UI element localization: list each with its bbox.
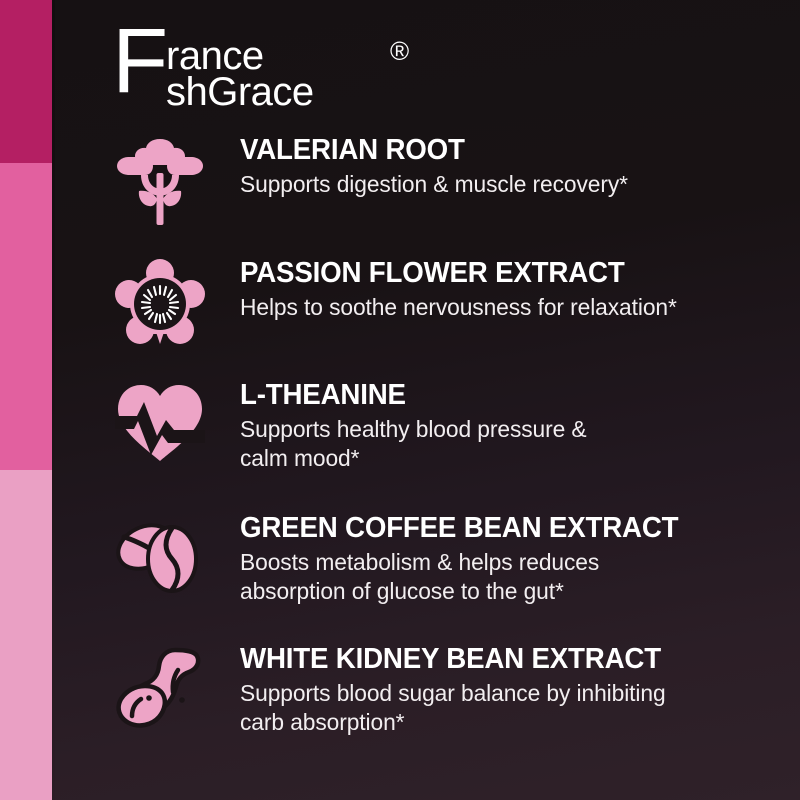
ingredient-description: Supports blood sugar balance by inhibiti… — [240, 679, 779, 737]
list-item-text: GREEN COFFEE BEAN EXTRACT Boosts metabol… — [240, 511, 796, 606]
heart-pulse-icon — [106, 378, 214, 474]
ingredient-title: PASSION FLOWER EXTRACT — [240, 256, 771, 290]
ingredient-description-line: Helps to soothe nervousness for relaxati… — [240, 293, 779, 322]
ingredient-description: Helps to soothe nervousness for relaxati… — [240, 293, 779, 322]
ingredient-description: Supports healthy blood pressure & calm m… — [240, 415, 779, 473]
ingredient-description-line: Supports digestion & muscle recovery* — [240, 170, 779, 199]
ingredient-title: L-THEANINE — [240, 378, 771, 412]
ingredient-title: GREEN COFFEE BEAN EXTRACT — [240, 511, 771, 545]
ingredient-description-line: absorption of glucose to the gut* — [240, 577, 779, 606]
ingredient-description-line: Boosts metabolism & helps reduces — [240, 548, 779, 577]
ingredient-description-line: calm mood* — [240, 444, 779, 473]
list-item-text: VALERIAN ROOT Supports digestion & muscl… — [240, 133, 796, 199]
ingredient-title: VALERIAN ROOT — [240, 133, 771, 167]
ingredient-description-line: Supports healthy blood pressure & — [240, 415, 779, 444]
ingredient-description: Supports digestion & muscle recovery* — [240, 170, 779, 199]
passion-flower-icon — [106, 256, 214, 352]
coffee-bean-icon — [106, 511, 214, 607]
valerian-flower-icon — [106, 133, 214, 229]
list-item-text: L-THEANINE Supports healthy blood pressu… — [240, 378, 796, 473]
list-item-text: PASSION FLOWER EXTRACT Helps to soothe n… — [240, 256, 796, 322]
ingredient-list: VALERIAN ROOT Supports digestion & muscl… — [0, 0, 800, 800]
ingredient-description-line: carb absorption* — [240, 708, 779, 737]
ingredient-title: WHITE KIDNEY BEAN EXTRACT — [240, 642, 771, 676]
ingredient-description: Boosts metabolism & helps reduces absorp… — [240, 548, 779, 606]
kidney-bean-icon — [106, 642, 214, 738]
ingredient-description-line: Supports blood sugar balance by inhibiti… — [240, 679, 779, 708]
list-item-text: WHITE KIDNEY BEAN EXTRACT Supports blood… — [240, 642, 796, 737]
